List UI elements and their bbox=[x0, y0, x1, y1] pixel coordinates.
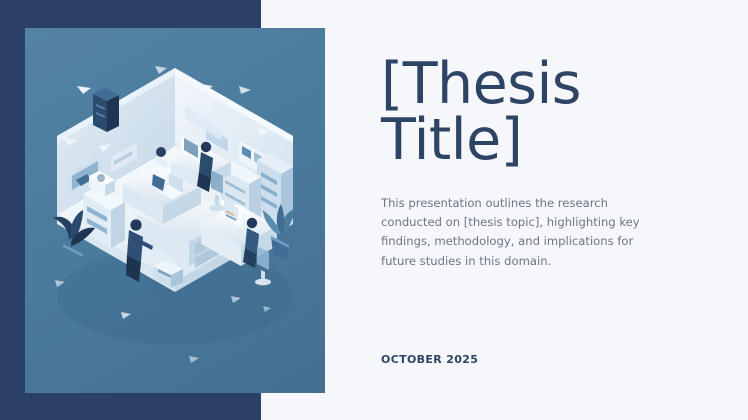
text-content-column: [Thesis Title] This presentation outline… bbox=[381, 0, 711, 420]
presentation-slide: [Thesis Title] This presentation outline… bbox=[0, 0, 748, 420]
slide-date: OCTOBER 2025 bbox=[381, 353, 478, 367]
page-title: [Thesis Title] bbox=[381, 56, 681, 168]
cover-image-panel bbox=[25, 28, 325, 393]
slide-description: This presentation outlines the research … bbox=[381, 194, 669, 271]
floating-cabinet bbox=[93, 88, 119, 132]
isometric-laboratory-illustration bbox=[25, 28, 325, 393]
